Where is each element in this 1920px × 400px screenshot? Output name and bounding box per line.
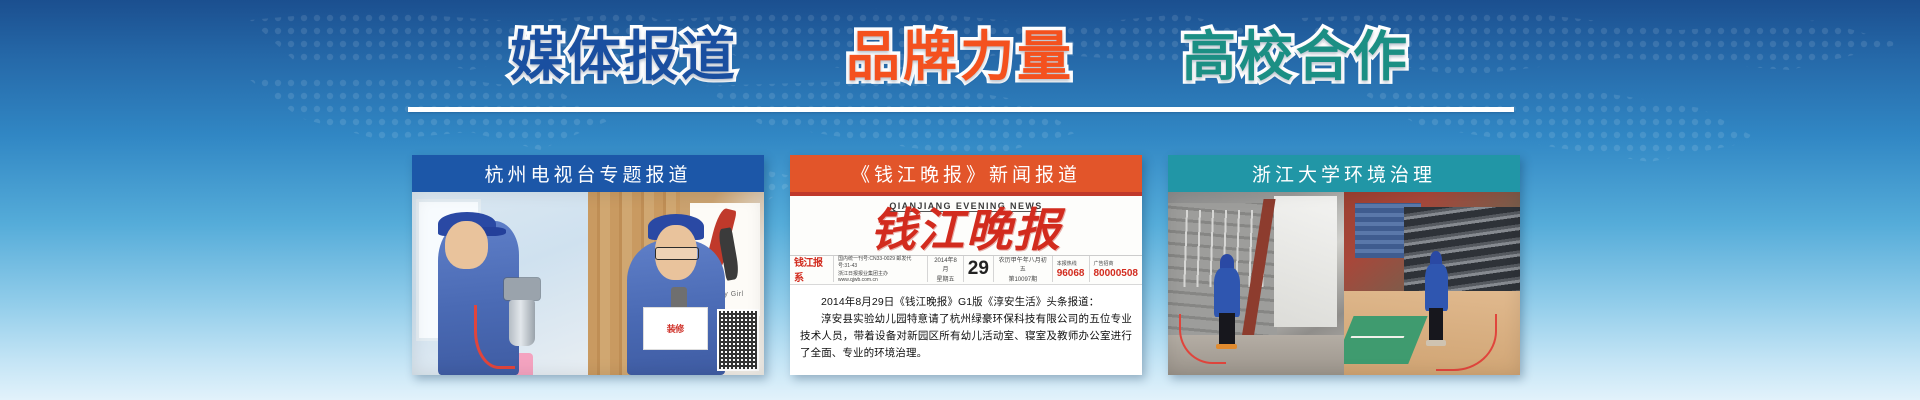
- article-paragraph-1: 2014年8月29日《钱江晚报》G1版《淳安生活》头条报道：: [800, 294, 1132, 311]
- newspaper-registration: 国内统一刊号:CN33-0029 邮发代号:31-43: [838, 255, 923, 269]
- headline-row: 媒体报道 品牌力量 高校合作: [0, 18, 1920, 96]
- newspaper-masthead-title: 钱江晚报: [790, 208, 1142, 254]
- card-newspaper-report-header: 《钱江晚报》新闻报道: [790, 155, 1142, 192]
- qr-code-icon: [717, 309, 759, 371]
- newspaper-brand-left: 钱江报系: [794, 254, 829, 284]
- newspaper-hotline-label: 本报热线: [1057, 260, 1085, 267]
- newspaper-lunar-line2: 第10097期: [998, 274, 1048, 283]
- headline-brand-power: 品牌力量: [846, 30, 1074, 84]
- headline-university-partner: 高校合作: [1182, 30, 1410, 84]
- microphone-station-logo: 装修: [643, 307, 708, 349]
- card-tv-report-header: 杭州电视台专题报道: [412, 155, 764, 192]
- card-university-project[interactable]: 浙江大学环境治理: [1168, 155, 1520, 375]
- newspaper-ad-label: 广告招商: [1094, 260, 1139, 267]
- newspaper-lunar-line1: 农历甲午年八月初五: [998, 255, 1048, 273]
- card-newspaper-report[interactable]: 《钱江晚报》新闻报道 QIANJIANG EVENING NEWS 钱江晚报 钱…: [790, 155, 1142, 375]
- photo-worker-interview: Pretty Girl 装修: [588, 192, 764, 375]
- newspaper-masthead-block: QIANJIANG EVENING NEWS 钱江晚报 钱江报系 国内统一刊号:…: [790, 192, 1142, 285]
- newspaper-date-line2: 星期五: [932, 274, 958, 283]
- headline-media-coverage: 媒体报道: [510, 30, 738, 84]
- newspaper-publisher: 浙江日报报业集团主办 www.qjwb.com.cn: [838, 270, 923, 283]
- newspaper-ad-number: 80000508: [1094, 268, 1139, 279]
- card-tv-report[interactable]: 杭州电视台专题报道: [412, 155, 764, 375]
- promo-banner: 媒体报道 品牌力量 高校合作 杭州电视台专题报道: [0, 0, 1920, 400]
- newspaper-meta-bar: 钱江报系 国内统一刊号:CN33-0029 邮发代号:31-43 浙江日报报业集…: [790, 255, 1142, 282]
- newspaper-date-line1: 2014年8月: [932, 255, 958, 273]
- newspaper-date-day: 29: [964, 256, 994, 282]
- card-tv-report-body: Pretty Girl 装修: [412, 192, 764, 375]
- photo-stairwell-treatment: [1168, 192, 1344, 375]
- photo-gymnasium-treatment: [1344, 192, 1520, 375]
- card-newspaper-report-body: QIANJIANG EVENING NEWS 钱江晚报 钱江报系 国内统一刊号:…: [790, 192, 1142, 375]
- card-university-project-body: [1168, 192, 1520, 375]
- card-university-project-header: 浙江大学环境治理: [1168, 155, 1520, 192]
- photo-worker-spraying: [412, 192, 588, 375]
- newspaper-hotline-number: 96068: [1057, 268, 1085, 279]
- article-paragraph-2: 淳安县实验幼儿园特意请了杭州绿豪环保科技有限公司的五位专业技术人员，带着设备对新…: [800, 311, 1132, 362]
- card-row: 杭州电视台专题报道: [412, 155, 1520, 375]
- headline-divider-line: [408, 107, 1514, 112]
- newspaper-article-text: 2014年8月29日《钱江晚报》G1版《淳安生活》头条报道： 淳安县实验幼儿园特…: [790, 285, 1142, 375]
